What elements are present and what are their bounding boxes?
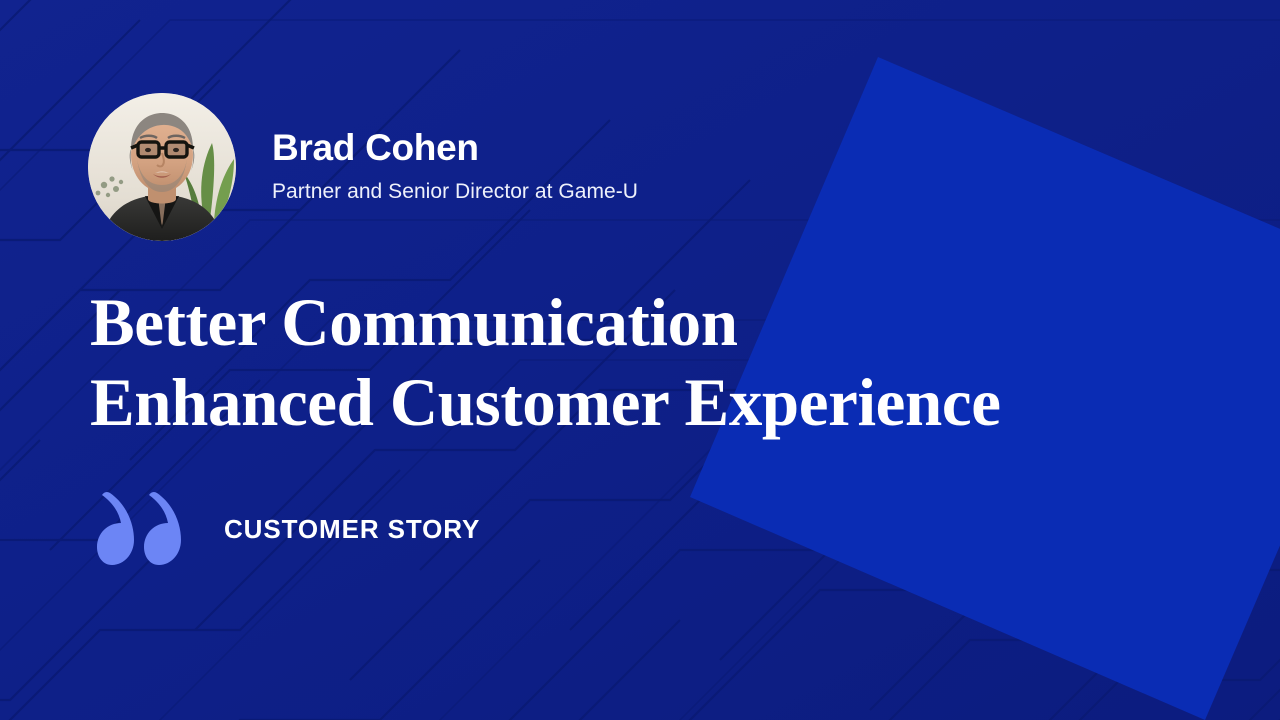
headline-line-2: Enhanced Customer Experience xyxy=(90,363,1134,443)
page-title: Better Communication Enhanced Customer E… xyxy=(90,283,1134,442)
speaker-name: Brad Cohen xyxy=(272,127,638,168)
speaker-block: Brad Cohen Partner and Senior Director a… xyxy=(88,93,638,241)
speaker-role: Partner and Senior Director at Game-U xyxy=(272,178,638,205)
avatar xyxy=(88,93,236,241)
eyebrow-label: CUSTOMER STORY xyxy=(224,514,480,547)
quote-mark-icon xyxy=(88,490,188,570)
headline-line-1: Better Communication xyxy=(90,283,1134,363)
slide-canvas: Brad Cohen Partner and Senior Director a… xyxy=(0,0,1280,720)
speaker-text: Brad Cohen Partner and Senior Director a… xyxy=(272,127,638,207)
customer-story-row: CUSTOMER STORY xyxy=(88,490,480,570)
